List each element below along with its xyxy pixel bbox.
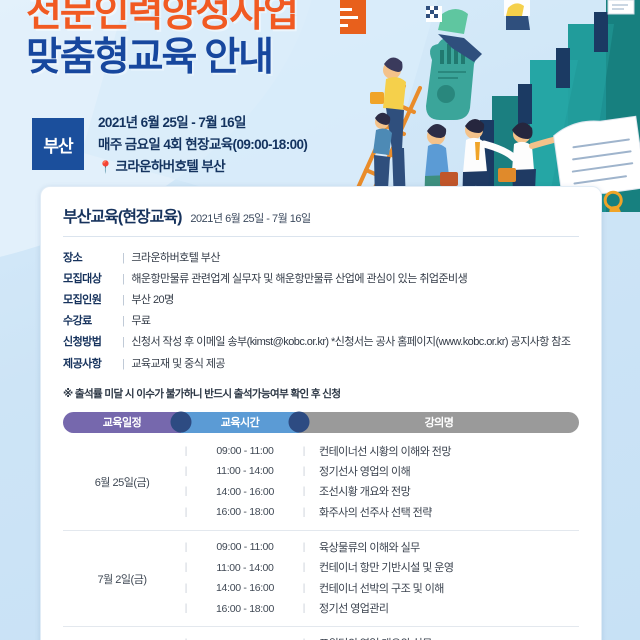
session-title: 컨테이너 항만 기반시설 및 운영 bbox=[309, 558, 579, 578]
header-divider-dot-2 bbox=[289, 412, 310, 433]
schedule-table-body: 6월 25일(금)|09:00 - 11:00|컨테이너선 시황의 이해와 전망… bbox=[63, 435, 579, 640]
info-label: 장소 bbox=[63, 248, 119, 269]
session-title: 정기선 영업관리 bbox=[309, 599, 579, 619]
info-list: 장소|크라운하버호텔 부산모집대상|해운항만물류 관련업계 실무자 및 해운항만… bbox=[63, 248, 579, 375]
session-date: 7월 2일(금) bbox=[63, 571, 181, 587]
session-title: 조선시황 개요와 전망 bbox=[309, 482, 579, 502]
column-header-lecture: 강의명 bbox=[299, 412, 579, 433]
meta-venue: 크라운하버호텔 부산 bbox=[116, 159, 226, 174]
column-header-schedule: 교육일정 bbox=[63, 412, 181, 433]
meta-period: 2021년 6월 25일 - 7월 16일 bbox=[98, 112, 307, 134]
info-value: 부산 20명 bbox=[131, 290, 579, 311]
session-time: 16:00 - 18:00 bbox=[191, 503, 299, 522]
info-value: 신청서 작성 후 이메일 송부(kimst@kobc.or.kr) *신청서는 … bbox=[131, 332, 579, 353]
info-row: 수강료|무료 bbox=[63, 311, 579, 332]
schedule-group: 6월 25일(금)|09:00 - 11:00|컨테이너선 시황의 이해와 전망… bbox=[63, 435, 579, 531]
info-value: 해운항만물류 관련업계 실무자 및 해운항만물류 산업에 관심이 있는 취업준비… bbox=[131, 269, 579, 290]
column-header-time: 교육시간 bbox=[181, 412, 299, 433]
info-label: 신청방법 bbox=[63, 332, 119, 353]
session-title: 육상물류의 이해와 실무 bbox=[309, 538, 579, 558]
schedule-row: |09:00 - 11:00|컨테이너선 시황의 이해와 전망 bbox=[181, 442, 579, 462]
header-divider-dot-1 bbox=[171, 412, 192, 433]
attendance-notice: ※ 출석률 미달 시 이수가 불가하니 반드시 출석가능여부 확인 후 신청 bbox=[63, 386, 579, 401]
meta-frequency: 매주 금요일 4회 현장교육(09:00-18:00) bbox=[98, 134, 307, 156]
row-divider-icon: | bbox=[181, 580, 191, 599]
details-card: 부산교육(현장교육) 2021년 6월 25일 - 7월 16일 장소|크라운하… bbox=[40, 186, 602, 640]
session-time: 14:00 - 16:00 bbox=[191, 579, 299, 598]
info-value: 무료 bbox=[131, 311, 579, 332]
row-divider-icon: | bbox=[181, 635, 191, 640]
info-separator: | bbox=[122, 311, 124, 332]
row-divider-icon: | bbox=[299, 504, 309, 523]
info-separator: | bbox=[122, 290, 124, 311]
session-title: 컨테이너 선박의 구조 및 이해 bbox=[309, 579, 579, 599]
row-divider-icon: | bbox=[181, 483, 191, 502]
meta-lines: 2021년 6월 25일 - 7월 16일 매주 금요일 4회 현장교육(09:… bbox=[98, 112, 307, 178]
info-value: 크라운하버호텔 부산 bbox=[131, 248, 579, 269]
row-divider-icon: | bbox=[299, 559, 309, 578]
session-time: 14:00 - 16:00 bbox=[191, 483, 299, 502]
session-title: 포워더의 영업 개요와 실무 bbox=[309, 634, 579, 640]
row-divider-icon: | bbox=[181, 463, 191, 482]
location-pin-icon: 📍 bbox=[98, 160, 112, 174]
schedule-group: 7월 2일(금)|09:00 - 11:00|육상물류의 이해와 실무|11:0… bbox=[63, 531, 579, 627]
session-time: 16:00 - 18:00 bbox=[191, 600, 299, 619]
city-badge: 부산 bbox=[32, 118, 84, 170]
info-label: 수강료 bbox=[63, 311, 119, 332]
info-row: 제공사항|교육교재 및 중식 제공 bbox=[63, 354, 579, 375]
headline-line-2: 맞춤형교육 안내 bbox=[26, 37, 297, 80]
card-title: 부산교육(현장교육) bbox=[63, 203, 181, 227]
info-label: 모집인원 bbox=[63, 290, 119, 311]
info-row: 신청방법|신청서 작성 후 이메일 송부(kimst@kobc.or.kr) *… bbox=[63, 332, 579, 353]
poster: 전문인력양성사업 맞춤형교육 안내 부산 2021년 6월 25일 - 7월 1… bbox=[0, 0, 640, 640]
row-divider-icon: | bbox=[181, 443, 191, 462]
meta-venue-row: 📍 크라운하버호텔 부산 bbox=[98, 156, 307, 178]
session-time: 11:00 - 14:00 bbox=[191, 559, 299, 578]
session-date: 6월 25일(금) bbox=[63, 474, 181, 490]
row-divider-icon: | bbox=[299, 600, 309, 619]
event-meta: 부산 2021년 6월 25일 - 7월 16일 매주 금요일 4회 현장교육(… bbox=[32, 112, 307, 178]
schedule-row: |11:00 - 14:00|정기선사 영업의 이해 bbox=[181, 462, 579, 482]
info-separator: | bbox=[122, 354, 124, 375]
row-divider-icon: | bbox=[299, 539, 309, 558]
schedule-row: |14:00 - 16:00|컨테이너 선박의 구조 및 이해 bbox=[181, 579, 579, 599]
info-label: 모집대상 bbox=[63, 269, 119, 290]
headline-line-1: 전문인력양성사업 bbox=[26, 0, 297, 35]
info-separator: | bbox=[122, 248, 124, 269]
row-divider-icon: | bbox=[299, 483, 309, 502]
row-divider-icon: | bbox=[181, 539, 191, 558]
session-time: 09:00 - 11:00 bbox=[191, 635, 299, 640]
row-divider-icon: | bbox=[299, 580, 309, 599]
schedule-row: |11:00 - 14:00|컨테이너 항만 기반시설 및 운영 bbox=[181, 558, 579, 578]
info-separator: | bbox=[122, 269, 124, 290]
session-list: |09:00 - 11:00|포워더의 영업 개요와 실무|11:00 - 14… bbox=[181, 634, 579, 640]
info-row: 모집대상|해운항만물류 관련업계 실무자 및 해운항만물류 산업에 관심이 있는… bbox=[63, 269, 579, 290]
schedule-row: |16:00 - 18:00|화주사의 선주사 선택 전략 bbox=[181, 503, 579, 523]
session-time: 09:00 - 11:00 bbox=[191, 538, 299, 557]
headline: 전문인력양성사업 맞춤형교육 안내 bbox=[26, 0, 297, 80]
card-title-row: 부산교육(현장교육) 2021년 6월 25일 - 7월 16일 bbox=[63, 203, 579, 237]
row-divider-icon: | bbox=[299, 635, 309, 640]
business-growth-illustration bbox=[340, 0, 640, 210]
row-divider-icon: | bbox=[181, 559, 191, 578]
schedule-table-header: 교육일정 교육시간 강의명 bbox=[63, 412, 579, 433]
schedule-group: 7월 9일(금)|09:00 - 11:00|포워더의 영업 개요와 실무|11… bbox=[63, 627, 579, 640]
row-divider-icon: | bbox=[299, 463, 309, 482]
schedule-row: |16:00 - 18:00|정기선 영업관리 bbox=[181, 599, 579, 619]
row-divider-icon: | bbox=[181, 600, 191, 619]
session-title: 컨테이너선 시황의 이해와 전망 bbox=[309, 442, 579, 462]
schedule-row: |09:00 - 11:00|육상물류의 이해와 실무 bbox=[181, 538, 579, 558]
info-row: 장소|크라운하버호텔 부산 bbox=[63, 248, 579, 269]
info-separator: | bbox=[122, 332, 124, 353]
row-divider-icon: | bbox=[299, 443, 309, 462]
session-title: 화주사의 선주사 선택 전략 bbox=[309, 503, 579, 523]
card-title-date: 2021년 6월 25일 - 7월 16일 bbox=[190, 210, 310, 226]
info-row: 모집인원|부산 20명 bbox=[63, 290, 579, 311]
session-list: |09:00 - 11:00|육상물류의 이해와 실무|11:00 - 14:0… bbox=[181, 538, 579, 619]
row-divider-icon: | bbox=[181, 504, 191, 523]
info-label: 제공사항 bbox=[63, 354, 119, 375]
schedule-row: |14:00 - 16:00|조선시황 개요와 전망 bbox=[181, 482, 579, 502]
info-value: 교육교재 및 중식 제공 bbox=[131, 354, 579, 375]
session-time: 11:00 - 14:00 bbox=[191, 462, 299, 481]
session-list: |09:00 - 11:00|컨테이너선 시황의 이해와 전망|11:00 - … bbox=[181, 442, 579, 523]
schedule-row: |09:00 - 11:00|포워더의 영업 개요와 실무 bbox=[181, 634, 579, 640]
session-time: 09:00 - 11:00 bbox=[191, 442, 299, 461]
session-title: 정기선사 영업의 이해 bbox=[309, 462, 579, 482]
